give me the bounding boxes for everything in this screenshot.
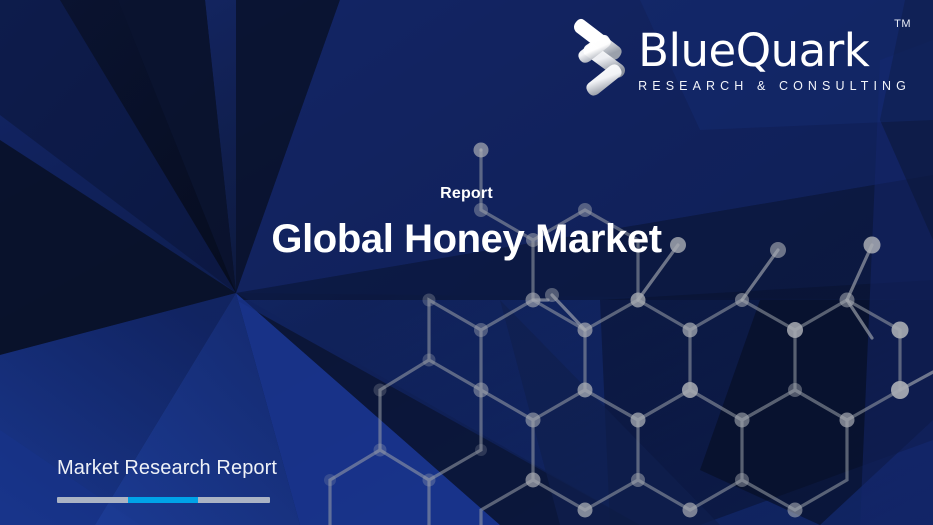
brand-logo: BlueQuark RESEARCH & CONSULTING TM	[570, 14, 911, 110]
trademark-symbol: TM	[894, 18, 911, 30]
cover-title-block: Report Global Honey Market	[0, 183, 933, 262]
footer-label: Market Research Report	[57, 455, 317, 481]
report-kicker-label: Report	[0, 183, 933, 205]
accent-bar-segment-middle	[128, 497, 198, 503]
accent-bar-segment-left	[57, 497, 128, 503]
page-title: Global Honey Market	[0, 216, 933, 262]
footer-block: Market Research Report	[57, 455, 317, 503]
brand-tagline: RESEARCH & CONSULTING	[638, 79, 911, 93]
footer-accent-bar	[57, 497, 270, 503]
accent-bar-segment-right	[198, 497, 270, 503]
brand-wordmark: BlueQuark	[638, 28, 911, 73]
bluequark-chevron-mark-icon	[570, 14, 632, 100]
report-cover-page: BlueQuark RESEARCH & CONSULTING TM Repor…	[0, 0, 933, 525]
